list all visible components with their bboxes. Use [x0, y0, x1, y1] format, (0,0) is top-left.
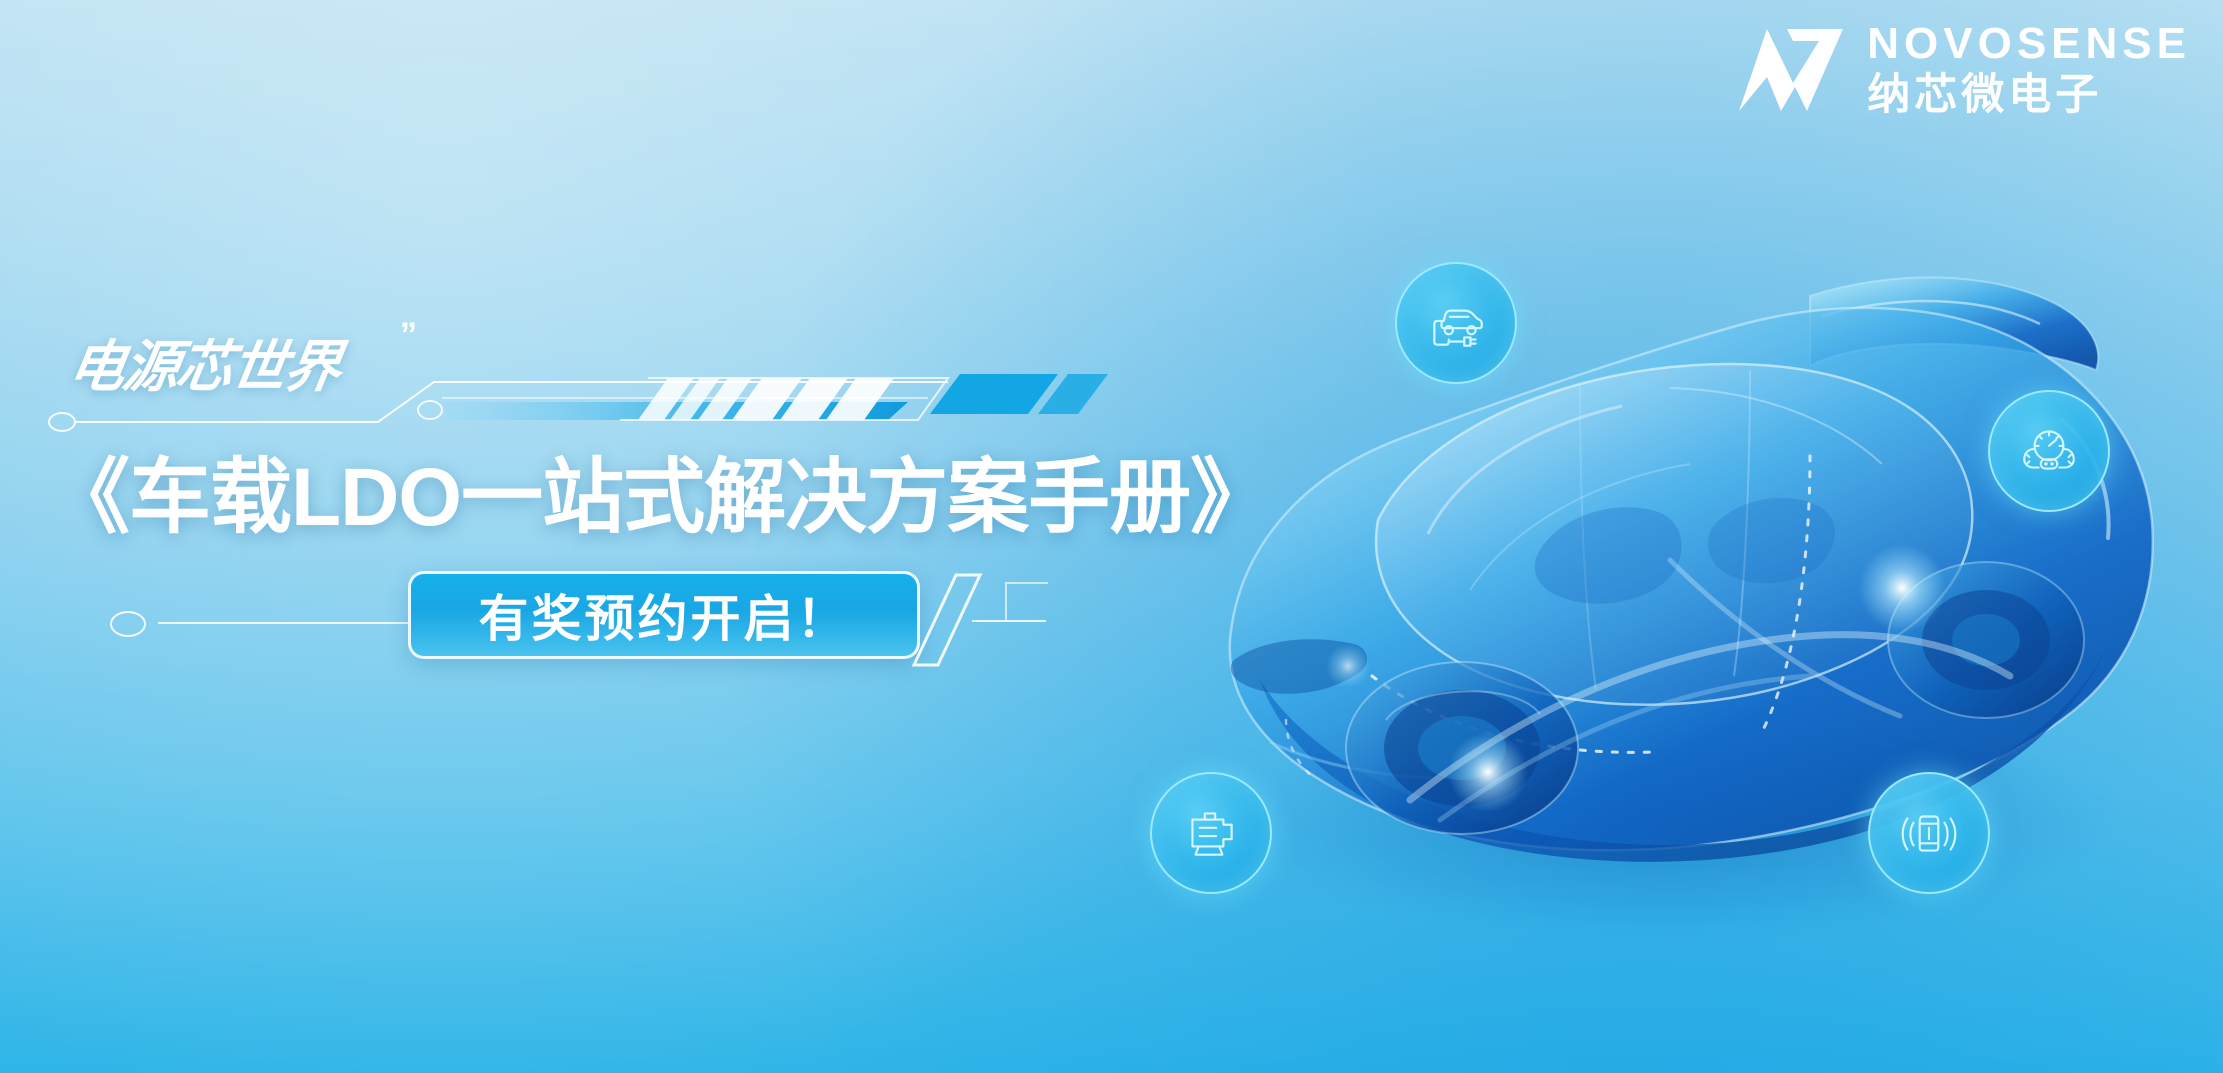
page-title: 《车载LDO一站式解决方案手册》 — [48, 430, 1338, 549]
cta-connector-line — [158, 622, 410, 624]
adas-radar-icon — [1896, 800, 1962, 866]
motor-icon — [1178, 800, 1244, 866]
tech-decoration-line — [48, 364, 1338, 434]
brand-logo[interactable]: NOVOSENSE 纳芯微电子 — [1733, 22, 2191, 117]
eyebrow-row: 电源芯世界 ” — [48, 330, 1338, 426]
ev-charging-icon — [1423, 290, 1489, 356]
cta-bullet-ring-icon — [108, 607, 162, 641]
feature-bubble-adas[interactable] — [1868, 772, 1990, 894]
feature-bubble-ev-charging[interactable] — [1395, 262, 1517, 384]
eyebrow-quote-mark: ” — [400, 316, 417, 355]
feature-bubble-traction-motor[interactable] — [1150, 772, 1272, 894]
feature-bubble-instrument-cluster[interactable] — [1988, 390, 2110, 512]
brand-name-en: NOVOSENSE — [1867, 22, 2191, 66]
gauge-cluster-icon — [2016, 418, 2082, 484]
promo-banner: NOVOSENSE 纳芯微电子 电源芯世界 ” — [0, 0, 2223, 1073]
cta-row: 有奖预约开启！ — [48, 561, 1338, 681]
novosense-n-logo-icon — [1733, 27, 1849, 113]
cta-button[interactable]: 有奖预约开启！ — [408, 571, 920, 659]
cta-tail-decoration — [910, 567, 1050, 671]
brand-name-cn: 纳芯微电子 — [1867, 74, 2191, 117]
hero-copy: 电源芯世界 ” — [48, 330, 1338, 681]
brand-wordmark: NOVOSENSE 纳芯微电子 — [1867, 22, 2191, 117]
